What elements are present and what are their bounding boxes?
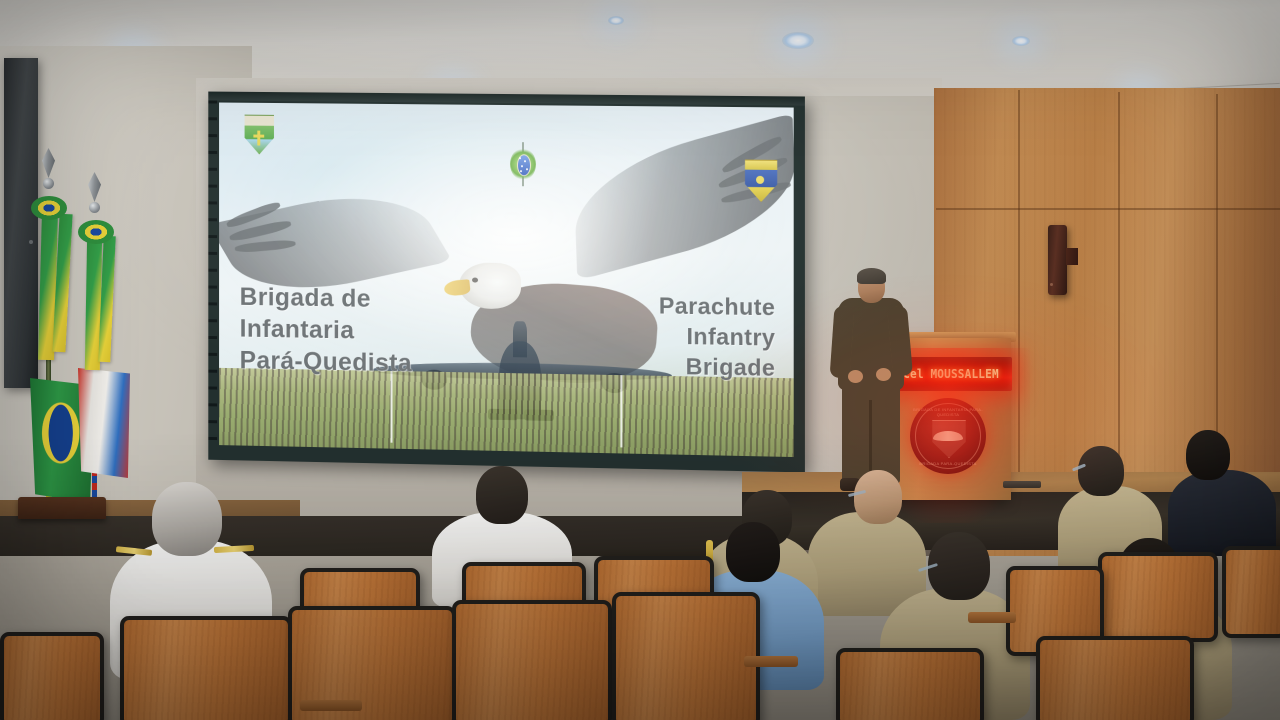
auditorium-photo: Brigada de Infantaria Pará-Quedista Para…	[0, 0, 1280, 720]
slide-title-pt-line1: Brigada de	[240, 283, 371, 313]
emblem-top-text: BRIGADA DE INFANTARIA PARA-QUEDISTA	[910, 407, 986, 417]
screen-tension-tab	[208, 117, 217, 120]
projection-screen[interactable]: Brigada de Infantaria Pará-Quedista Para…	[208, 92, 805, 473]
audience-head	[854, 470, 902, 524]
wall-display-panel	[4, 58, 38, 388]
screen-tension-tab	[208, 437, 217, 440]
audience-head	[1078, 446, 1124, 496]
podium-laptop-object	[1003, 481, 1041, 488]
slide-title-en-line1: Parachute	[659, 293, 775, 321]
chair[interactable]	[1222, 546, 1280, 638]
screen-tension-tab	[208, 370, 217, 373]
screen-tension-tab	[208, 286, 217, 289]
presenter-hair	[857, 268, 886, 284]
podium-brigade-emblem-icon: BRIGADA DE INFANTARIA PARA-QUEDISTA BRIG…	[910, 398, 986, 474]
screen-tension-tab	[208, 168, 217, 171]
ceiling-downlight-8	[608, 16, 624, 25]
slide-title-pt-line2: Infantaria	[240, 315, 355, 345]
flag-rosette-1-icon	[31, 196, 67, 220]
parade-flagpole	[391, 371, 393, 443]
slide-crest-blue-yellow-icon	[743, 160, 778, 201]
flag-rosette-2-icon	[78, 220, 114, 244]
audience-shoulders	[1168, 470, 1276, 556]
screen-tension-tab	[208, 336, 217, 339]
chair-armrest	[300, 700, 362, 711]
audience-head	[152, 482, 222, 556]
screen-tension-tab	[208, 201, 217, 204]
screen-tension-tab	[208, 235, 217, 238]
chair[interactable]	[612, 592, 760, 720]
slide-parade-formation	[219, 368, 794, 457]
slide-title-en-line2: Infantry	[686, 324, 775, 351]
chair[interactable]	[120, 616, 292, 720]
presenter-hand-left	[848, 370, 863, 383]
chair[interactable]	[836, 648, 984, 720]
wood-seam	[936, 208, 1280, 210]
wall-speaker-led-icon	[1050, 283, 1053, 286]
screen-tension-tab	[208, 252, 217, 255]
chair[interactable]	[0, 632, 104, 720]
flagpole-ball-2	[89, 202, 100, 213]
audience-head	[476, 466, 528, 524]
screen-tension-tab	[208, 403, 217, 406]
screen-tension-tab	[208, 151, 217, 154]
screen-tension-tab	[208, 185, 217, 188]
flag-stand-base	[18, 497, 106, 519]
screen-tension-tab	[208, 302, 217, 305]
slide-crest-green-icon	[243, 115, 274, 153]
audience-head	[1186, 430, 1230, 480]
wall-speaker-bracket	[1066, 248, 1078, 265]
audience-head	[928, 532, 990, 600]
brazilian-coat-of-arms-icon	[510, 148, 536, 180]
chair-armrest	[744, 656, 798, 667]
slide-surface: Brigada de Infantaria Pará-Quedista Para…	[219, 103, 794, 458]
screen-tension-tabs	[208, 100, 217, 452]
ceiling-downlight-7	[1012, 36, 1030, 46]
slide-title-en-line3: Brigade	[686, 354, 776, 382]
screen-tension-tab	[208, 269, 217, 272]
chair[interactable]	[1098, 552, 1218, 642]
led-nameplate-text: Cel MOUSSALLEM	[903, 367, 999, 381]
screen-tension-tab	[208, 100, 217, 103]
screen-tension-tab	[208, 420, 217, 423]
screen-tension-tab	[208, 353, 217, 356]
parade-flagpole	[620, 375, 622, 447]
chair[interactable]	[452, 600, 612, 720]
screen-tension-tab	[208, 386, 217, 389]
chair[interactable]	[1036, 636, 1194, 720]
slide-title-pt-line3: Pará-Quedista	[240, 346, 412, 377]
presenter-hand-right	[876, 368, 891, 381]
eagle-eye	[472, 278, 478, 283]
chair-armrest	[968, 612, 1016, 623]
screen-tension-tab	[208, 218, 217, 221]
emblem-wings-icon	[933, 431, 963, 441]
screen-tension-tab	[208, 319, 217, 322]
ceiling-downlight-3	[782, 32, 814, 49]
audience-head	[726, 522, 780, 582]
flagpole-ball-1	[43, 178, 54, 189]
state-flag	[78, 368, 130, 478]
emblem-bottom-text: BRIGADA PARA-QUEDISTA	[910, 461, 986, 466]
screen-tension-tab	[208, 134, 217, 137]
